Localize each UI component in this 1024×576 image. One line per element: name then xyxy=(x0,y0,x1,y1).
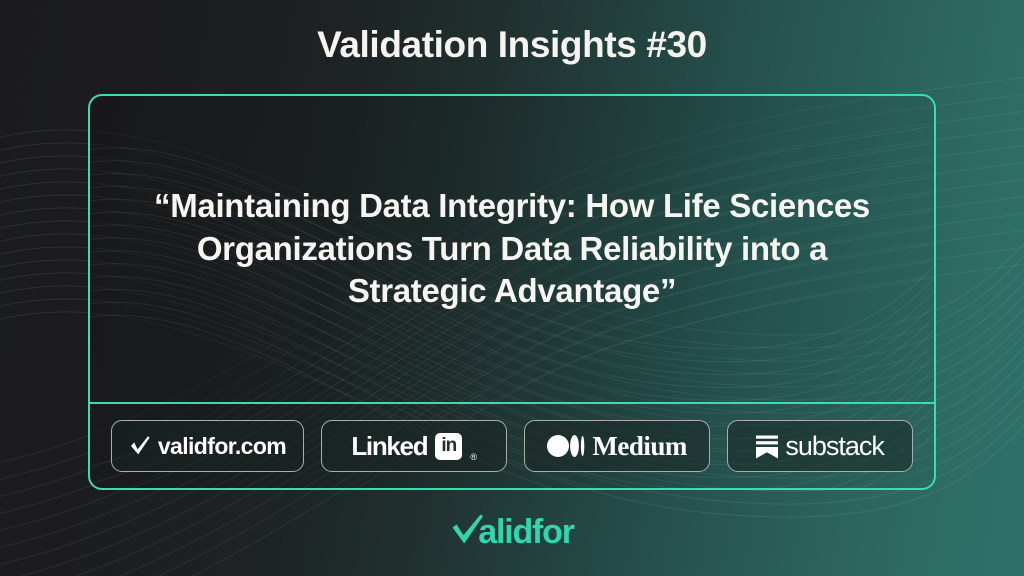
poster-canvas: Validation Insights #30 xyxy=(0,0,1024,576)
substack-icon xyxy=(756,434,778,459)
channel-badge-row: validfor.com Linked in ® xyxy=(90,404,934,488)
linkedin-trademark: ® xyxy=(470,452,477,462)
badge-label-substack: substack xyxy=(785,431,884,462)
badge-medium[interactable]: Medium xyxy=(524,420,710,472)
linkedin-in-text: in xyxy=(441,436,456,455)
badge-validfor[interactable]: validfor.com xyxy=(111,420,304,472)
check-icon xyxy=(129,435,151,457)
linkedin-icon: in xyxy=(435,433,462,460)
badge-label-linkedin: Linked xyxy=(351,431,427,462)
quote-area: “Maintaining Data Integrity: How Life Sc… xyxy=(90,96,934,402)
badge-label-medium: Medium xyxy=(592,431,687,462)
content-card: “Maintaining Data Integrity: How Life Sc… xyxy=(88,94,936,490)
badge-linkedin[interactable]: Linked in ® xyxy=(321,420,507,472)
footer-wordmark: alidfor xyxy=(478,515,574,549)
badge-substack[interactable]: substack xyxy=(727,420,913,472)
medium-icon xyxy=(547,434,585,458)
badge-label-validfor: validfor.com xyxy=(158,433,286,460)
page-title: Validation Insights #30 xyxy=(0,24,1024,67)
article-quote: “Maintaining Data Integrity: How Life Sc… xyxy=(138,185,886,314)
footer-logo: alidfor xyxy=(0,512,1024,551)
